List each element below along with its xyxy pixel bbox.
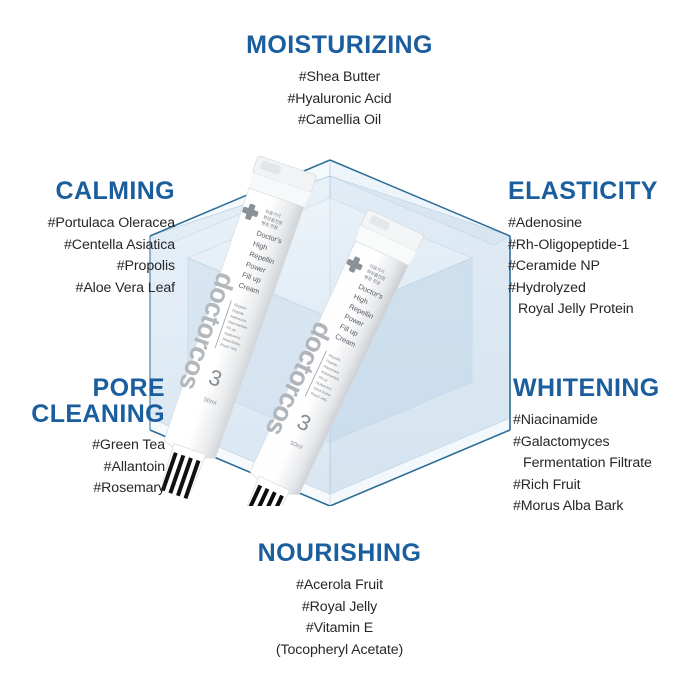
benefit-title-calming: CALMING bbox=[0, 178, 175, 205]
ingredient-item: #Niacinamide bbox=[513, 410, 679, 432]
infographic-canvas: 의료기기 화장품전문 병원 전용 Doctor's High Repellin … bbox=[0, 0, 679, 679]
ingredient-item: #Allantoin bbox=[0, 457, 165, 479]
ingredient-item: #Adenosine bbox=[508, 213, 679, 235]
ingredient-item-continuation: (Tocopheryl Acetate) bbox=[0, 640, 679, 662]
benefit-ingredients-whitening: #Niacinamide #Galactomyces Fermentation … bbox=[513, 410, 679, 518]
ingredient-item: #Propolis bbox=[0, 256, 175, 278]
ingredient-item: #Rh-Oligopeptide-1 bbox=[508, 235, 679, 257]
ingredient-item: #Acerola Fruit bbox=[0, 575, 679, 597]
ingredient-item: #Centella Asiatica bbox=[0, 235, 175, 257]
ingredient-item: #Shea Butter bbox=[0, 67, 679, 89]
ingredient-item: #Aloe Vera Leaf bbox=[0, 278, 175, 300]
benefit-block-calming: CALMING #Portulaca Oleracea #Centella As… bbox=[0, 178, 175, 299]
ingredient-item: #Camellia Oil bbox=[0, 110, 679, 132]
benefit-block-whitening: WHITENING #Niacinamide #Galactomyces Fer… bbox=[513, 375, 679, 518]
ingredient-item: #Rosemary bbox=[0, 478, 165, 500]
ingredient-item: #Ceramide NP bbox=[508, 256, 679, 278]
benefit-title-whitening: WHITENING bbox=[513, 375, 679, 402]
ingredient-item: #Rich Fruit bbox=[513, 475, 679, 497]
ingredient-item: #Morus Alba Bark bbox=[513, 496, 679, 518]
benefit-block-pore-cleaning: PORE CLEANING #Green Tea #Allantoin #Ros… bbox=[0, 375, 165, 500]
ingredient-item: #Royal Jelly bbox=[0, 597, 679, 619]
benefit-title-moisturizing: MOISTURIZING bbox=[0, 32, 679, 59]
benefit-ingredients-moisturizing: #Shea Butter #Hyaluronic Acid #Camellia … bbox=[0, 67, 679, 132]
ingredient-item: #Vitamin E bbox=[0, 618, 679, 640]
benefit-ingredients-elasticity: #Adenosine #Rh-Oligopeptide-1 #Ceramide … bbox=[508, 213, 679, 321]
product-cube-graphic: 의료기기 화장품전문 병원 전용 Doctor's High Repellin … bbox=[148, 150, 512, 506]
benefit-ingredients-calming: #Portulaca Oleracea #Centella Asiatica #… bbox=[0, 213, 175, 299]
ingredient-item: #Green Tea bbox=[0, 435, 165, 457]
benefit-block-moisturizing: MOISTURIZING #Shea Butter #Hyaluronic Ac… bbox=[0, 32, 679, 132]
ingredient-item-continuation: Fermentation Filtrate bbox=[513, 453, 679, 475]
ingredient-item: #Hyaluronic Acid bbox=[0, 89, 679, 111]
benefit-title-pore-cleaning: PORE CLEANING bbox=[0, 375, 165, 427]
ingredient-item: #Hydrolyzed bbox=[508, 278, 679, 300]
benefit-title-elasticity: ELASTICITY bbox=[508, 178, 679, 205]
benefit-ingredients-pore-cleaning: #Green Tea #Allantoin #Rosemary bbox=[0, 435, 165, 500]
ingredient-item: #Galactomyces bbox=[513, 432, 679, 454]
ingredient-item: #Portulaca Oleracea bbox=[0, 213, 175, 235]
benefit-ingredients-nourishing: #Acerola Fruit #Royal Jelly #Vitamin E (… bbox=[0, 575, 679, 661]
benefit-block-nourishing: NOURISHING #Acerola Fruit #Royal Jelly #… bbox=[0, 540, 679, 661]
benefit-block-elasticity: ELASTICITY #Adenosine #Rh-Oligopeptide-1… bbox=[508, 178, 679, 321]
benefit-title-nourishing: NOURISHING bbox=[0, 540, 679, 567]
ingredient-item-continuation: Royal Jelly Protein bbox=[508, 299, 679, 321]
